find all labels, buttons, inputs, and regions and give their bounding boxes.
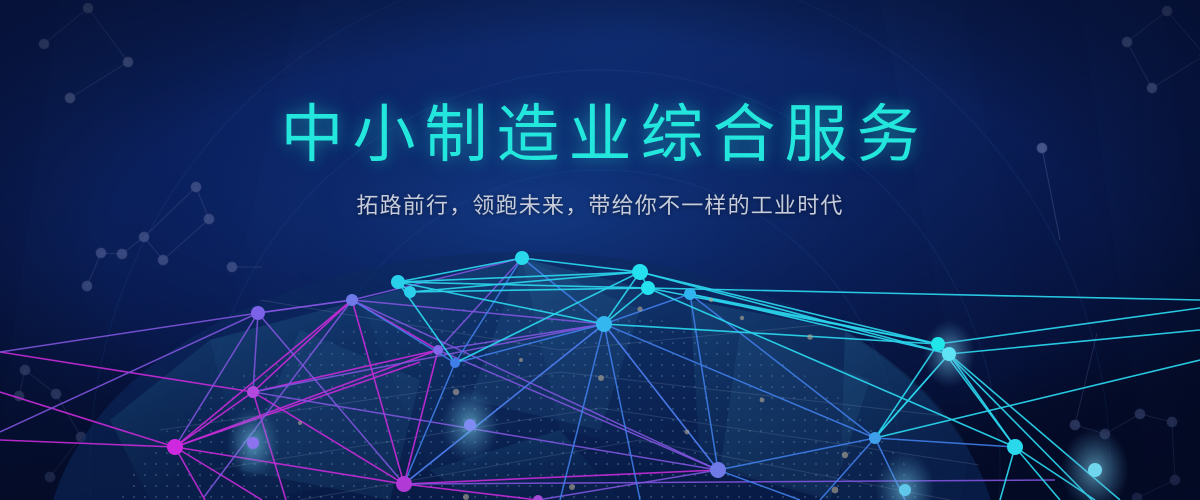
dome-inner-surface xyxy=(44,252,1000,500)
hero-banner: 中小制造业综合服务 拓路前行，领跑未来，带给你不一样的工业时代 xyxy=(0,0,1200,500)
network-dome xyxy=(0,0,1200,500)
